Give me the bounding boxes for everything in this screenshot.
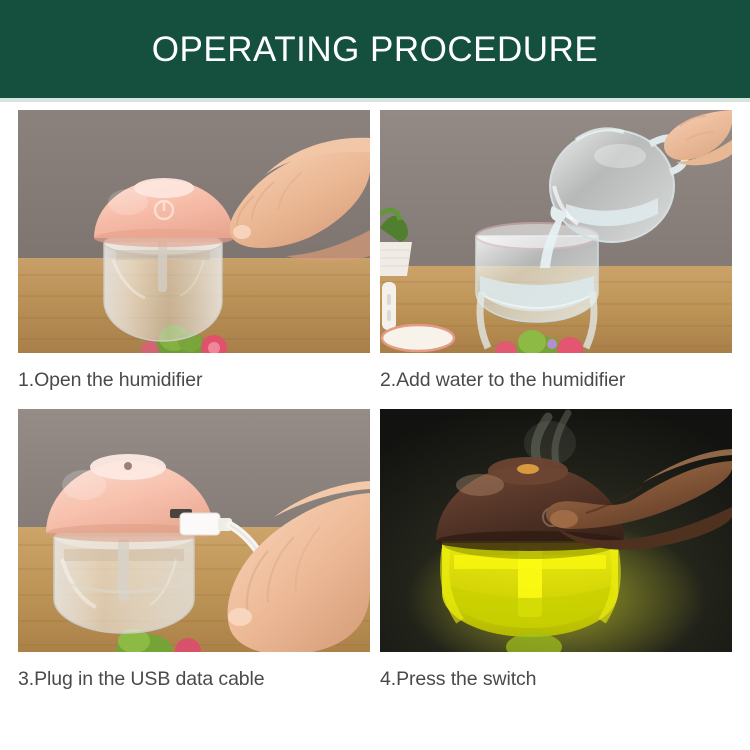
step-photo-2 [380,110,732,353]
step-photo-4 [380,409,732,652]
header-underline-divider [0,98,750,102]
step-caption-2: 2.Add water to the humidifier [380,353,732,397]
photo-press-the-switch [380,409,732,652]
header-banner: OPERATING PROCEDURE [0,0,750,98]
step-photo-1 [18,110,370,353]
step-caption-4: 4.Press the switch [380,652,732,696]
steps-row-top: 1.Open the humidifier [0,110,750,397]
step-caption-3: 3.Plug in the USB data cable [18,652,370,696]
step-cell-4: 4.Press the switch [380,409,732,696]
step-cell-2: 2.Add water to the humidifier [380,110,732,397]
steps-grid: 1.Open the humidifier [0,110,750,695]
page-title: OPERATING PROCEDURE [152,32,598,67]
photo-add-water-to-the-humidifier [380,110,732,353]
steps-row-bottom: 3.Plug in the USB data cable [0,409,750,696]
photo-open-the-humidifier [18,110,370,353]
humidifier-base [104,231,222,341]
step-cell-3: 3.Plug in the USB data cable [18,409,370,696]
step-photo-3 [18,409,370,652]
operating-procedure-infographic: OPERATING PROCEDURE [0,0,750,750]
step-cell-1: 1.Open the humidifier [18,110,370,397]
step-caption-1: 1.Open the humidifier [18,353,370,397]
photo-plug-in-the-usb-data-cable [18,409,370,652]
